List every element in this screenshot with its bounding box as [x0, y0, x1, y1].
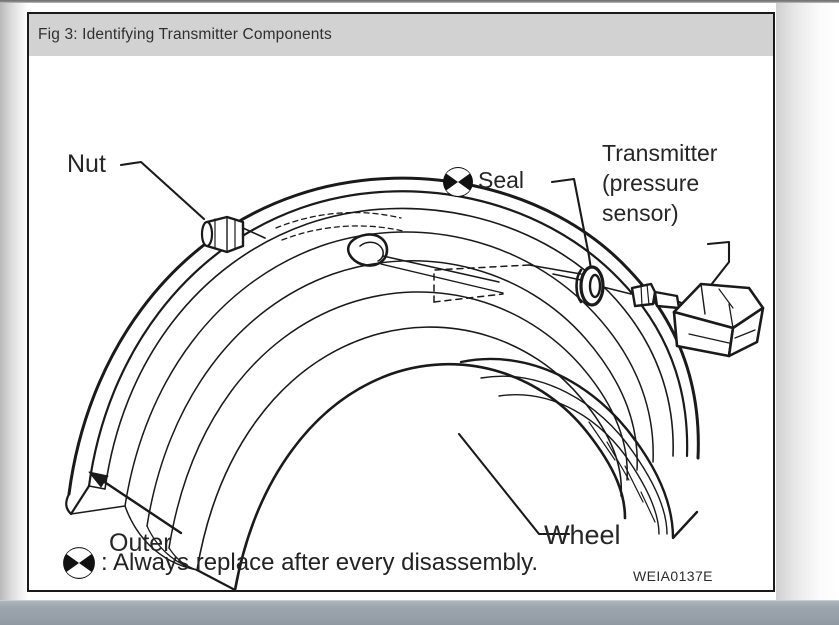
callout-label-nut: Nut	[67, 152, 106, 178]
rim-flange-line-1	[89, 191, 687, 486]
valve-hole-boss	[348, 235, 387, 266]
x-circle-icon-legend	[62, 546, 96, 580]
callout-label-transmitter: Transmitter (pressure sensor)	[602, 139, 775, 229]
figure-legend: : Always replace after every disassembly…	[62, 546, 538, 580]
legend-text: : Always replace after every disassembly…	[101, 549, 538, 577]
callout-label-seal: Seal	[478, 169, 524, 192]
rim-left-cut-2	[71, 506, 125, 514]
callout-label-wheel: Wheel	[544, 522, 621, 550]
page-right-shadow	[776, 3, 839, 600]
figure-body: Nut Seal Transmitter (pressure sensor) W…	[29, 56, 773, 590]
valve-hole-inner	[360, 242, 383, 261]
callout-seal-group	[442, 166, 474, 198]
x-circle-icon	[442, 166, 474, 198]
figure-reference-code: WEIA0137E	[633, 568, 713, 584]
assembly-guide-right	[529, 265, 581, 274]
seal-washer	[577, 267, 604, 305]
assembly-guide-bottom	[434, 294, 503, 302]
rim-left-cut-3	[89, 486, 105, 489]
window-top-edge	[0, 0, 839, 3]
rim-back-edge	[461, 359, 697, 538]
leader-line-wheel	[459, 434, 569, 534]
rim-hatch-4	[641, 492, 655, 522]
rim-hatch-2	[607, 442, 629, 480]
leader-line-outer	[97, 477, 181, 533]
nut-face	[202, 222, 212, 246]
taskbar[interactable]	[0, 600, 839, 625]
figure-card: Fig 3: Identifying Transmitter Component…	[27, 12, 775, 592]
rim-back-contour-1	[481, 376, 667, 534]
rim-hatch-3	[625, 466, 643, 502]
leader-line-nut	[121, 162, 204, 219]
wheel-diagram	[29, 56, 773, 590]
figure-header: Fig 3: Identifying Transmitter Component…	[29, 14, 773, 56]
figure-title: Fig 3: Identifying Transmitter Component…	[38, 26, 332, 44]
valve-stem-collar	[632, 284, 655, 306]
page-left-shadow	[0, 3, 28, 600]
valve-stem-neck	[655, 292, 679, 308]
